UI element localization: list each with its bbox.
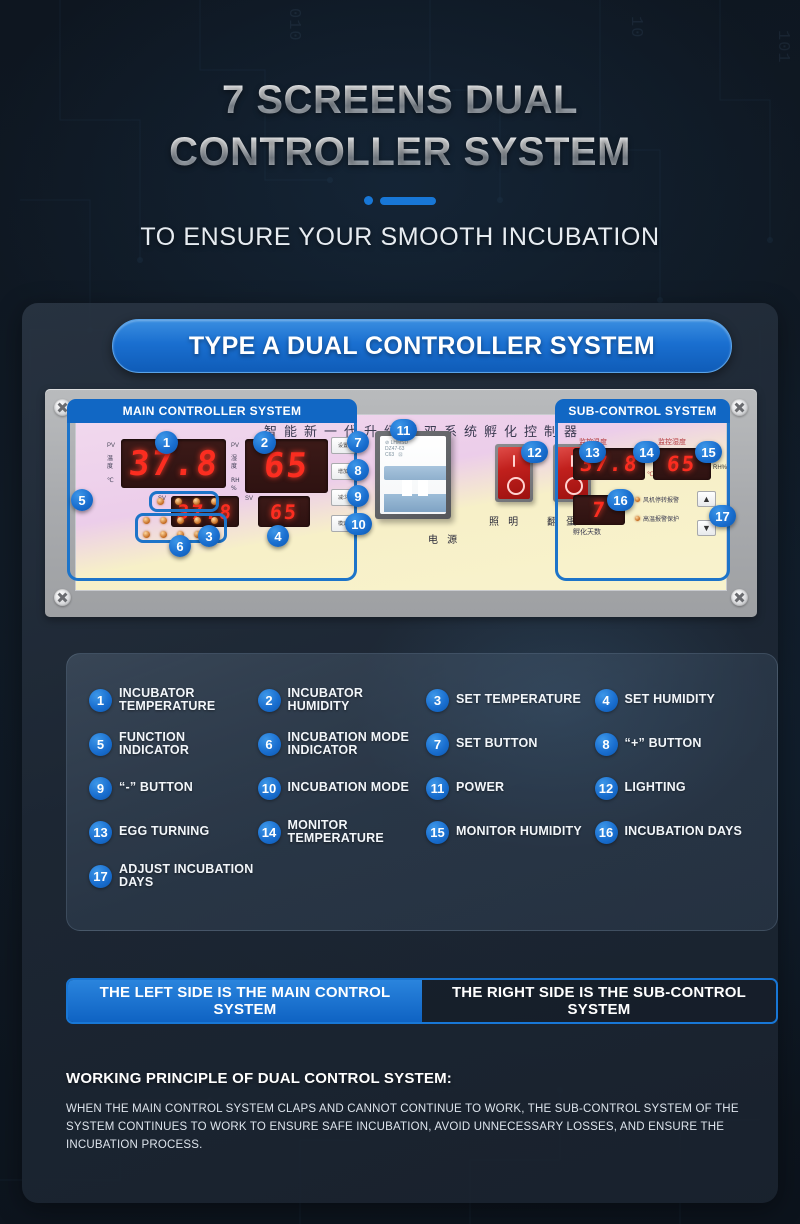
legend-number: 15	[426, 821, 449, 844]
legend-item-10: 10 INCUBATION MODE	[258, 766, 423, 810]
badge-2: 2	[253, 431, 276, 454]
indicator-lamp	[194, 517, 201, 524]
legend-number: 9	[89, 777, 112, 800]
legend-number: 4	[595, 689, 618, 712]
breaker-toggle[interactable]	[418, 480, 428, 496]
controller-device-panel: 智能新一代升级版双系统孵化控制器 MAIN CONTROLLER SYSTEM …	[45, 389, 757, 617]
pv-hum-unit: RH%	[231, 477, 240, 493]
badge-5: 5	[71, 489, 93, 511]
legend-item-7: 7 SET BUTTON	[426, 722, 591, 766]
legend-label: LIGHTING	[625, 781, 686, 795]
side-comparison-bars: THE LEFT SIDE IS THE MAIN CONTROL SYSTEM…	[66, 978, 778, 1024]
legend-item-5: 5 FUNCTION INDICATOR	[89, 722, 254, 766]
legend-number: 8	[595, 733, 618, 756]
legend-label: INCUBATION DAYS	[625, 825, 743, 839]
legend-number: 5	[89, 733, 112, 756]
badge-15: 15	[695, 441, 722, 463]
badge-12: 12	[521, 441, 548, 463]
power-breaker[interactable]: ⊘ LHMSDDZ47-63C63 ⊡	[375, 431, 451, 519]
pv-temp-label: PV	[107, 443, 115, 450]
page-subtitle: TO ENSURE YOUR SMOOTH INCUBATION	[0, 223, 800, 252]
legend-label: SET BUTTON	[456, 737, 538, 751]
indicator-lamp	[211, 517, 218, 524]
legend-panel: 1 INCUBATOR TEMPERATURE 2 INCUBATOR HUMI…	[66, 653, 778, 931]
legend-label: INCUBATION MODE	[288, 781, 410, 795]
badge-11: 11	[390, 419, 417, 441]
sv-humidity-display: 65	[258, 496, 310, 527]
pv-hum-label-cn: 湿度	[231, 455, 237, 471]
badge-4: 4	[267, 525, 289, 547]
sub-control-title: SUB-CONTROL SYSTEM	[555, 399, 730, 423]
indicator-lamp	[143, 517, 150, 524]
main-card: TYPE A DUAL CONTROLLER SYSTEM 智能新一代升级版双系…	[22, 303, 778, 1203]
legend-label: SET HUMIDITY	[625, 693, 716, 707]
legend-label: INCUBATION MODE INDICATOR	[288, 731, 423, 758]
screw-icon	[731, 399, 748, 416]
monitor-humidity-value: 65	[666, 452, 698, 476]
legend-label: MONITOR HUMIDITY	[456, 825, 582, 839]
legend-label: FUNCTION INDICATOR	[119, 731, 254, 758]
legend-label: ADJUST INCUBATION DAYS	[119, 863, 254, 890]
pv-temp-label-cn: 温度	[107, 455, 113, 471]
incubation-days-label: 孵化天数	[573, 528, 601, 536]
type-a-banner: TYPE A DUAL CONTROLLER SYSTEM	[112, 319, 732, 373]
working-principle-body: WHEN THE MAIN CONTROL SYSTEM CLAPS AND C…	[66, 1100, 766, 1154]
divider-bar	[380, 197, 436, 205]
legend-item-4: 4 SET HUMIDITY	[595, 678, 760, 722]
indicator-lamp	[160, 517, 167, 524]
legend-label: MONITOR TEMPERATURE	[288, 819, 423, 846]
legend-item-1: 1 INCUBATOR TEMPERATURE	[89, 678, 254, 722]
badge-6: 6	[169, 535, 191, 557]
increase-incubation-days-button[interactable]: ▲	[697, 491, 716, 507]
legend-label: “+” BUTTON	[625, 737, 702, 751]
title-divider	[0, 196, 800, 205]
badge-3: 3	[198, 525, 220, 547]
legend-number: 11	[426, 777, 449, 800]
badge-10: 10	[345, 513, 372, 535]
legend-label: INCUBATOR HUMIDITY	[288, 687, 423, 714]
legend-number: 10	[258, 777, 281, 800]
legend-item-12: 12 LIGHTING	[595, 766, 760, 810]
legend-number: 16	[595, 821, 618, 844]
legend-number: 13	[89, 821, 112, 844]
page-title-line2: CONTROLLER SYSTEM	[0, 128, 800, 176]
legend-number: 17	[89, 865, 112, 888]
legend-item-13: 13 EGG TURNING	[89, 810, 254, 854]
legend-grid: 1 INCUBATOR TEMPERATURE 2 INCUBATOR HUMI…	[67, 654, 777, 930]
right-side-bar: THE RIGHT SIDE IS THE SUB-CONTROL SYSTEM	[422, 980, 776, 1022]
over-temp-lamp-icon	[635, 516, 640, 521]
legend-item-8: 8 “+” BUTTON	[595, 722, 760, 766]
function-indicator-highlight	[149, 491, 219, 512]
legend-item-2: 2 INCUBATOR HUMIDITY	[258, 678, 423, 722]
sub-control-section: SUB-CONTROL SYSTEM	[555, 399, 730, 581]
badge-9: 9	[347, 485, 369, 507]
legend-label: INCUBATOR TEMPERATURE	[119, 687, 254, 714]
badge-13: 13	[579, 441, 606, 463]
divider-dot	[364, 196, 373, 205]
legend-item-9: 9 “-” BUTTON	[89, 766, 254, 810]
legend-item-17: 17 ADJUST INCUBATION DAYS	[89, 854, 254, 898]
main-controller-title: MAIN CONTROLLER SYSTEM	[67, 399, 357, 423]
screw-icon	[54, 589, 71, 606]
legend-number: 12	[595, 777, 618, 800]
legend-number: 1	[89, 689, 112, 712]
page-title-line1: 7 SCREENS DUAL	[0, 76, 800, 124]
indicator-lamp	[143, 531, 150, 538]
page-header: 7 SCREENS DUAL CONTROLLER SYSTEM TO ENSU…	[0, 0, 800, 252]
breaker-bar-top	[384, 466, 446, 480]
legend-number: 14	[258, 821, 281, 844]
badge-17: 17	[709, 505, 736, 527]
incubation-days-value: 7	[590, 498, 607, 522]
sv-hum-label: SV	[245, 496, 253, 503]
type-a-banner-label: TYPE A DUAL CONTROLLER SYSTEM	[189, 332, 655, 361]
legend-item-6: 6 INCUBATION MODE INDICATOR	[258, 722, 423, 766]
breaker-toggle[interactable]	[402, 480, 412, 496]
indicator-lamp	[160, 531, 167, 538]
indicator-lamp	[177, 517, 184, 524]
legend-item-15: 15 MONITOR HUMIDITY	[426, 810, 591, 854]
legend-label: POWER	[456, 781, 504, 795]
power-breaker-body: ⊘ LHMSDDZ47-63C63 ⊡	[380, 436, 446, 514]
breaker-brand-text: ⊘ LHMSDDZ47-63C63 ⊡	[385, 440, 408, 458]
legend-label: “-” BUTTON	[119, 781, 193, 795]
legend-number: 3	[426, 689, 449, 712]
legend-item-14: 14 MONITOR TEMPERATURE	[258, 810, 423, 854]
legend-number: 2	[258, 689, 281, 712]
badge-8: 8	[347, 459, 369, 481]
working-principle-title: WORKING PRINCIPLE OF DUAL CONTROL SYSTEM…	[66, 1070, 452, 1087]
legend-label: SET TEMPERATURE	[456, 693, 581, 707]
over-temp-protect-indicator: 高温报警保护	[643, 516, 679, 524]
pv-hum-label: PV	[231, 443, 239, 450]
fan-alarm-lamp-icon	[635, 497, 640, 502]
sv-humidity-value: 65	[269, 500, 300, 524]
breaker-bar-bottom	[384, 494, 446, 512]
monitor-hum-unit: RH%	[713, 465, 727, 472]
legend-item-16: 16 INCUBATION DAYS	[595, 810, 760, 854]
legend-item-3: 3 SET TEMPERATURE	[426, 678, 591, 722]
badge-1: 1	[155, 431, 178, 454]
legend-number: 6	[258, 733, 281, 756]
legend-label: EGG TURNING	[119, 825, 209, 839]
incubation-mode-lamps-row1	[143, 517, 218, 524]
badge-16: 16	[607, 489, 634, 511]
power-label: 电 源	[428, 531, 460, 546]
fan-stop-alarm-indicator: 风机停转报警	[643, 497, 679, 505]
pv-temp-unit: ℃	[107, 477, 114, 485]
legend-number: 7	[426, 733, 449, 756]
lighting-label: 照 明	[489, 513, 521, 528]
legend-item-11: 11 POWER	[426, 766, 591, 810]
badge-7: 7	[347, 431, 369, 453]
screw-icon	[731, 589, 748, 606]
badge-14: 14	[633, 441, 660, 463]
monitor-hum-label: 监控湿度	[658, 438, 686, 446]
left-side-bar: THE LEFT SIDE IS THE MAIN CONTROL SYSTEM	[68, 980, 422, 1022]
